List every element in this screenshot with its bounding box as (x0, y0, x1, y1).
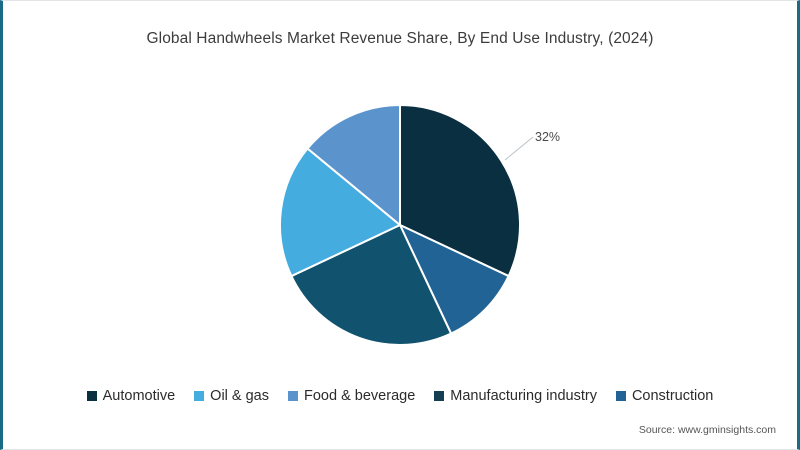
legend-label-oil-and-gas: Oil & gas (210, 388, 269, 404)
legend-item-automotive[interactable]: Automotive (87, 388, 176, 404)
legend-swatch-automotive (87, 391, 97, 401)
chart-legend: Automotive Oil & gas Food & beverage Man… (0, 388, 800, 404)
slice-value-label-automotive: 32% (535, 130, 560, 144)
legend-label-manufacturing-industry: Manufacturing industry (450, 388, 597, 404)
pie-chart: 32% (0, 0, 800, 380)
legend-swatch-food-and-beverage (288, 391, 298, 401)
value-label-leader-line (505, 137, 533, 160)
pie-slice-group (280, 105, 520, 345)
pie-chart-svg (0, 0, 800, 380)
legend-label-automotive: Automotive (103, 388, 176, 404)
legend-item-oil-and-gas[interactable]: Oil & gas (194, 388, 269, 404)
legend-label-food-and-beverage: Food & beverage (304, 388, 415, 404)
legend-item-construction[interactable]: Construction (616, 388, 713, 404)
chart-page: Global Handwheels Market Revenue Share, … (0, 0, 800, 450)
legend-swatch-oil-and-gas (194, 391, 204, 401)
legend-swatch-manufacturing-industry (434, 391, 444, 401)
source-note: Source: www.gminsights.com (639, 424, 776, 436)
legend-item-food-and-beverage[interactable]: Food & beverage (288, 388, 415, 404)
legend-label-construction: Construction (632, 388, 713, 404)
legend-swatch-construction (616, 391, 626, 401)
legend-item-manufacturing-industry[interactable]: Manufacturing industry (434, 388, 597, 404)
